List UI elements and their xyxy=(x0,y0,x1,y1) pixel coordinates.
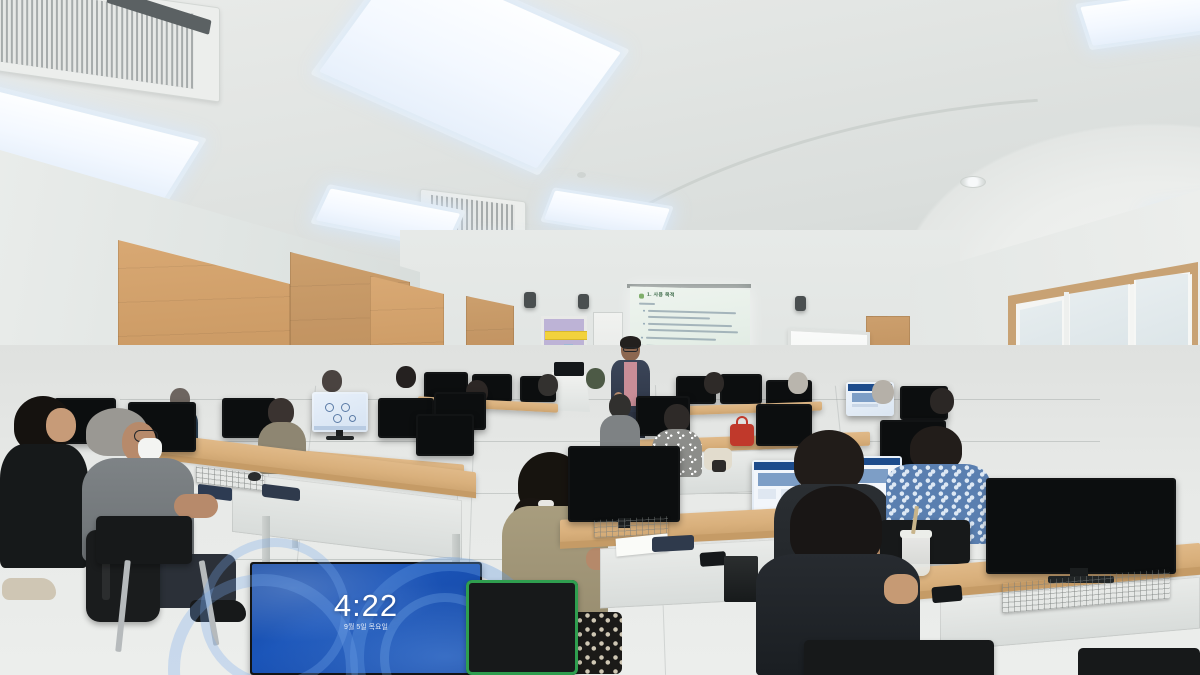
chair-bottom-center-green[interactable] xyxy=(466,580,578,675)
smartphone-center[interactable] xyxy=(700,551,727,567)
wall-speaker-right xyxy=(795,296,806,311)
chair-bottom-far-right[interactable] xyxy=(1078,648,1200,675)
monitor-front-win11[interactable]: 4:22 9월 5일 목요일 xyxy=(250,562,482,675)
chair-bottom-right[interactable] xyxy=(804,640,994,675)
mousepad-center xyxy=(652,535,694,552)
downlight-1 xyxy=(960,176,986,188)
short-hair xyxy=(794,430,864,492)
sandal xyxy=(2,578,56,600)
lockscreen-clock: 4:22 xyxy=(252,588,480,624)
monitor-front-left-3 xyxy=(416,414,474,456)
podium-monitor xyxy=(554,362,584,376)
lockscreen-date: 9월 5일 목요일 xyxy=(252,622,480,632)
monitor-mid-diagram xyxy=(312,392,368,432)
wall-speaker-center xyxy=(578,294,589,309)
student-head-back-9 xyxy=(930,388,954,414)
chair-front-left[interactable] xyxy=(96,516,192,564)
instructor-glasses xyxy=(623,347,638,352)
board-banner xyxy=(545,331,587,340)
wall-speaker-left xyxy=(524,292,536,308)
red-handbag-handle xyxy=(736,416,748,425)
hand-navy-person xyxy=(884,574,918,604)
monitor-front-center xyxy=(568,446,680,522)
student-head-back-7 xyxy=(788,372,808,394)
pc-tower-center xyxy=(724,556,758,602)
student-head-back-5 xyxy=(586,368,605,389)
smartphone-right[interactable] xyxy=(931,585,962,604)
win11-lock-screen[interactable]: 4:22 9월 5일 목요일 xyxy=(252,564,480,673)
student-head-back-6 xyxy=(704,372,724,394)
student-mid-4 xyxy=(600,394,640,454)
student-head-back-1 xyxy=(322,370,342,392)
student-head-back-4 xyxy=(538,374,558,396)
student-head-back-8 xyxy=(872,380,894,404)
classroom-photo: 1. 사용 목적 xyxy=(0,0,1200,675)
monitor-front-right-wide xyxy=(986,478,1176,574)
sprinkler-head xyxy=(577,172,586,178)
student-head-back-2 xyxy=(396,366,416,388)
slide-bullet-icon xyxy=(639,294,644,299)
slide-title: 1. 사용 목적 xyxy=(647,292,675,300)
red-handbag xyxy=(730,424,754,446)
forearm xyxy=(174,494,218,518)
monitor-back-5 xyxy=(720,374,762,404)
beige-bag-strap xyxy=(712,460,726,472)
